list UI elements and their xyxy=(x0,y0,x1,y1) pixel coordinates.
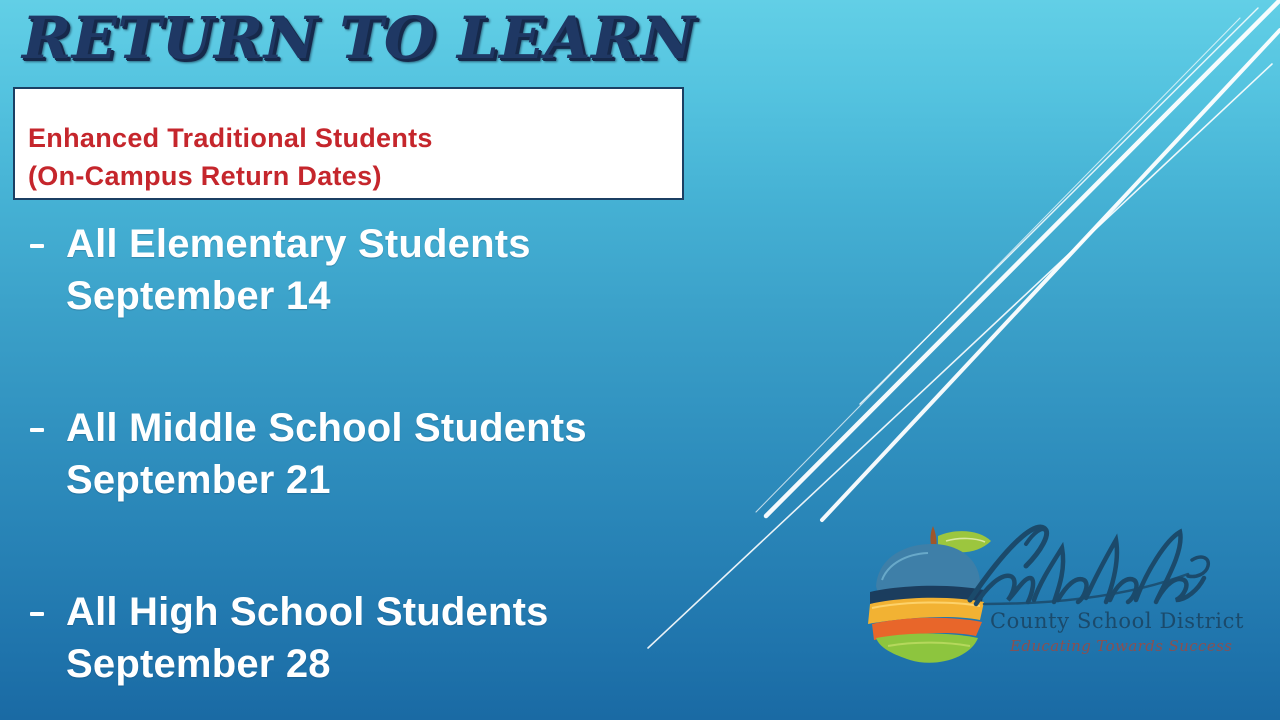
callout-text-group: Enhanced Traditional Students (On-Campus… xyxy=(28,119,676,195)
slide-title: RETURN TO LEARN xyxy=(22,8,695,69)
list-item: All Middle School Students September 21 xyxy=(0,402,780,514)
bullet-list: All Elementary Students September 14 All… xyxy=(0,218,780,698)
dash-bullet-icon xyxy=(30,244,44,248)
logo-subtitle: County School District xyxy=(990,609,1244,633)
bullet-1-line-2: September 14 xyxy=(66,270,780,322)
bullet-1-line-1: All Elementary Students xyxy=(66,218,780,270)
callout-line-1: Enhanced Traditional Students xyxy=(28,119,676,157)
callout-box: Enhanced Traditional Students (On-Campus… xyxy=(13,87,684,200)
bullet-2-line-1: All Middle School Students xyxy=(66,402,780,454)
list-item: All High School Students September 28 xyxy=(0,586,780,698)
lauderdale-county-school-district-logo: County School District Educating Towards… xyxy=(858,508,1258,678)
slide-canvas: RETURN TO LEARN Enhanced Traditional Stu… xyxy=(0,0,1280,720)
logo-script-name xyxy=(970,527,1208,604)
bullet-2-line-2: September 21 xyxy=(66,454,780,506)
dash-bullet-icon xyxy=(30,612,44,616)
dash-bullet-icon xyxy=(30,428,44,432)
logo-tagline: Educating Towards Success xyxy=(1009,637,1232,655)
bullet-3-line-1: All High School Students xyxy=(66,586,780,638)
bullet-3-line-2: September 28 xyxy=(66,638,780,690)
list-item: All Elementary Students September 14 xyxy=(0,218,780,330)
callout-line-2: (On-Campus Return Dates) xyxy=(28,157,676,195)
